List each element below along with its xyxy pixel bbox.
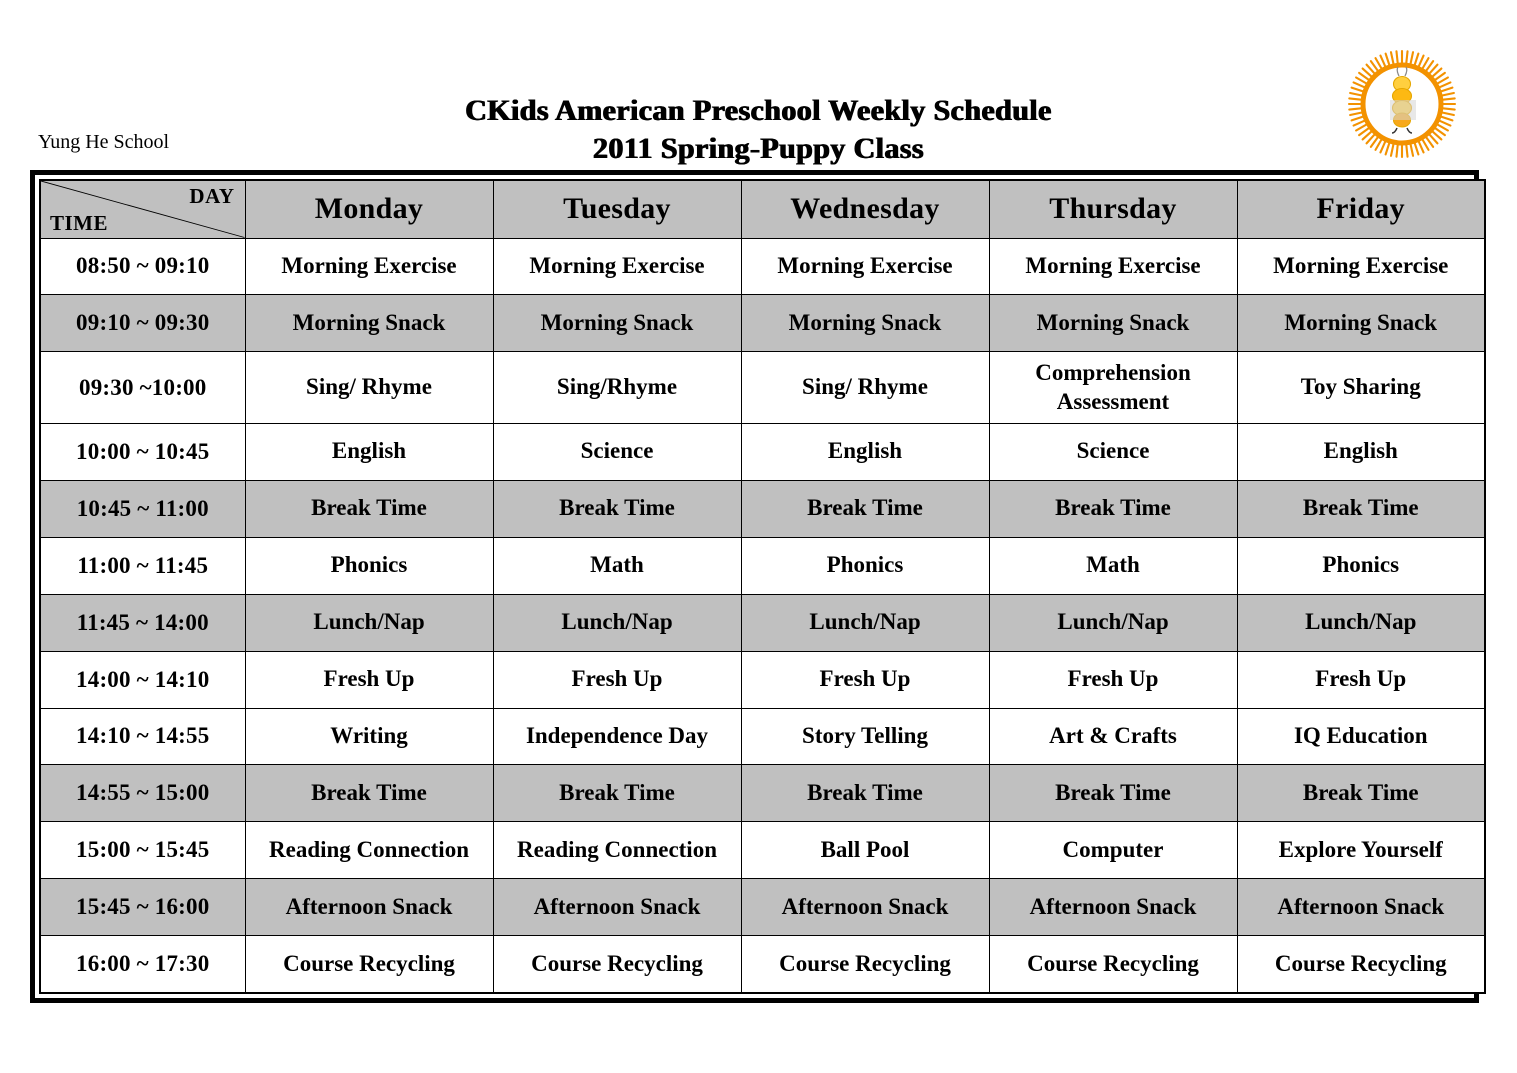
activity-cell: Lunch/Nap [989,594,1237,651]
time-slot-cell: 15:45 ~ 16:00 [40,879,245,936]
day-header-thursday: Thursday [989,180,1237,238]
schedule-row: 08:50 ~ 09:10Morning ExerciseMorning Exe… [40,238,1485,295]
activity-cell: Fresh Up [245,651,493,708]
activity-cell: Fresh Up [989,651,1237,708]
activity-cell: English [1237,423,1485,480]
schedule-row: 11:45 ~ 14:00Lunch/NapLunch/NapLunch/Nap… [40,594,1485,651]
schedule-row: 14:55 ~ 15:00Break TimeBreak TimeBreak T… [40,765,1485,822]
time-slot-cell: 15:00 ~ 15:45 [40,822,245,879]
time-slot-cell: 14:10 ~ 14:55 [40,708,245,765]
activity-cell: Break Time [741,765,989,822]
time-slot-cell: 14:00 ~ 14:10 [40,651,245,708]
corner-day-label: DAY [189,184,234,209]
activity-cell: Science [989,423,1237,480]
activity-cell: Break Time [245,765,493,822]
activity-cell: Break Time [245,480,493,537]
activity-cell: Break Time [989,480,1237,537]
schedule-row: 09:10 ~ 09:30Morning SnackMorning SnackM… [40,295,1485,352]
activity-cell: Lunch/Nap [741,594,989,651]
activity-cell: Morning Snack [741,295,989,352]
activity-cell: Morning Exercise [741,238,989,295]
activity-cell: Morning Snack [245,295,493,352]
page-title: CKids American Preschool Weekly Schedule [0,92,1517,130]
activity-cell: English [245,423,493,480]
activity-cell: IQ Education [1237,708,1485,765]
activity-cell: Sing/Rhyme [493,352,741,423]
activity-cell: Break Time [1237,765,1485,822]
activity-cell: Afternoon Snack [245,879,493,936]
activity-cell: Lunch/Nap [1237,594,1485,651]
sunburst-caterpillar-logo [1346,48,1458,160]
weekly-schedule-table: DAY TIME MondayTuesdayWednesdayThursdayF… [39,179,1486,994]
activity-cell: Fresh Up [741,651,989,708]
activity-cell: Break Time [493,765,741,822]
time-slot-cell: 11:00 ~ 11:45 [40,537,245,594]
activity-cell: Morning Exercise [493,238,741,295]
activity-cell: Morning Exercise [245,238,493,295]
activity-cell: Break Time [1237,480,1485,537]
schedule-row: 15:45 ~ 16:00Afternoon SnackAfternoon Sn… [40,879,1485,936]
title-block: CKids American Preschool Weekly Schedule… [0,92,1517,169]
activity-cell: Phonics [245,537,493,594]
activity-cell: Science [493,423,741,480]
activity-cell: Explore Yourself [1237,822,1485,879]
activity-cell: Course Recycling [1237,936,1485,993]
activity-cell: English [741,423,989,480]
activity-cell: Ball Pool [741,822,989,879]
activity-cell: Comprehension Assessment [989,352,1237,423]
schedule-row: 10:00 ~ 10:45EnglishScienceEnglishScienc… [40,423,1485,480]
activity-cell: Math [989,537,1237,594]
schedule-row: 10:45 ~ 11:00Break TimeBreak TimeBreak T… [40,480,1485,537]
time-slot-cell: 11:45 ~ 14:00 [40,594,245,651]
activity-cell: Course Recycling [245,936,493,993]
activity-cell: Break Time [493,480,741,537]
activity-cell: Reading Connection [493,822,741,879]
activity-cell: Lunch/Nap [493,594,741,651]
activity-cell: Course Recycling [989,936,1237,993]
day-header-tuesday: Tuesday [493,180,741,238]
time-slot-cell: 14:55 ~ 15:00 [40,765,245,822]
day-header-wednesday: Wednesday [741,180,989,238]
activity-cell: Break Time [741,480,989,537]
activity-cell: Morning Snack [1237,295,1485,352]
activity-cell: Afternoon Snack [1237,879,1485,936]
activity-cell: Morning Exercise [989,238,1237,295]
activity-cell: Course Recycling [493,936,741,993]
time-slot-cell: 10:45 ~ 11:00 [40,480,245,537]
schedule-table-frame: DAY TIME MondayTuesdayWednesdayThursdayF… [30,170,1479,1003]
page-subtitle: 2011 Spring-Puppy Class [0,130,1517,168]
day-header-friday: Friday [1237,180,1485,238]
activity-cell: Art & Crafts [989,708,1237,765]
activity-cell: Course Recycling [741,936,989,993]
activity-cell: Morning Snack [989,295,1237,352]
activity-cell: Lunch/Nap [245,594,493,651]
activity-cell: Morning Exercise [1237,238,1485,295]
time-slot-cell: 10:00 ~ 10:45 [40,423,245,480]
day-header-monday: Monday [245,180,493,238]
activity-cell: Afternoon Snack [741,879,989,936]
schedule-row: 14:00 ~ 14:10Fresh UpFresh UpFresh UpFre… [40,651,1485,708]
activity-cell: Math [493,537,741,594]
activity-cell: Writing [245,708,493,765]
corner-time-label: TIME [50,211,108,236]
activity-cell: Toy Sharing [1237,352,1485,423]
schedule-row: 16:00 ~ 17:30Course RecyclingCourse Recy… [40,936,1485,993]
document-header: Yung He School CKids American Preschool … [0,0,1517,170]
time-slot-cell: 08:50 ~ 09:10 [40,238,245,295]
activity-cell: Sing/ Rhyme [245,352,493,423]
activity-cell: Story Telling [741,708,989,765]
schedule-row: 11:00 ~ 11:45PhonicsMathPhonicsMathPhoni… [40,537,1485,594]
activity-cell: Fresh Up [1237,651,1485,708]
time-slot-cell: 09:30 ~10:00 [40,352,245,423]
table-header-row: DAY TIME MondayTuesdayWednesdayThursdayF… [40,180,1485,238]
activity-cell: Afternoon Snack [493,879,741,936]
time-slot-cell: 16:00 ~ 17:30 [40,936,245,993]
time-slot-cell: 09:10 ~ 09:30 [40,295,245,352]
activity-cell: Fresh Up [493,651,741,708]
activity-cell: Afternoon Snack [989,879,1237,936]
activity-cell: Computer [989,822,1237,879]
activity-cell: Reading Connection [245,822,493,879]
time-day-corner-cell: DAY TIME [40,180,245,238]
activity-cell: Phonics [741,537,989,594]
activity-cell: Independence Day [493,708,741,765]
activity-cell: Phonics [1237,537,1485,594]
table-body: 08:50 ~ 09:10Morning ExerciseMorning Exe… [40,238,1485,993]
schedule-row: 09:30 ~10:00Sing/ RhymeSing/RhymeSing/ R… [40,352,1485,423]
schedule-row: 15:00 ~ 15:45Reading ConnectionReading C… [40,822,1485,879]
activity-cell: Break Time [989,765,1237,822]
activity-cell: Morning Snack [493,295,741,352]
schedule-row: 14:10 ~ 14:55WritingIndependence DayStor… [40,708,1485,765]
activity-cell: Sing/ Rhyme [741,352,989,423]
